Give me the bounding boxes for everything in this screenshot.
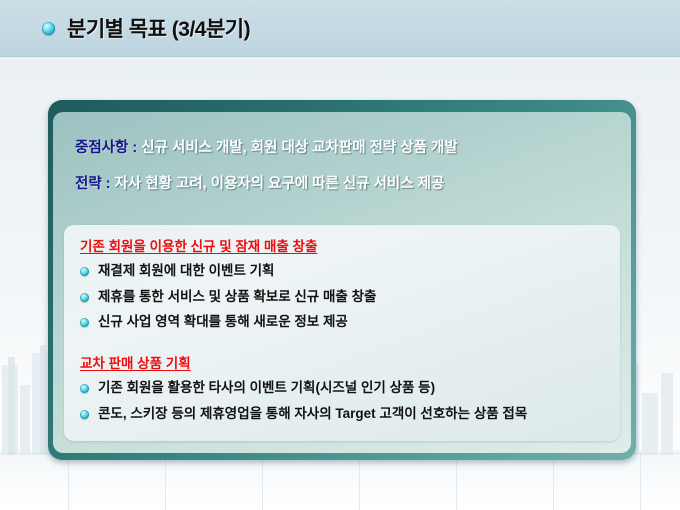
content-card-inner: 중점사항 : 신규 서비스 개발, 회원 대상 교차판매 전략 상품 개발 전략…: [53, 112, 631, 453]
statement-row: 전략 : 자사 현황 고려, 이용자의 요구에 따른 신규 서비스 제공: [75, 172, 615, 193]
slide-header: 분기별 목표 (3/4분기): [0, 0, 680, 57]
sphere-bullet-icon: [80, 293, 89, 302]
grid-line: [359, 452, 360, 510]
sphere-bullet-icon: [80, 267, 89, 276]
section-block: 기존 회원을 이용한 신규 및 잠재 매출 창출 재결제 회원에 대한 이벤트 …: [80, 235, 610, 332]
page-title: 분기별 목표 (3/4분기): [67, 13, 250, 43]
statements-block: 중점사항 : 신규 서비스 개발, 회원 대상 교차판매 전략 상품 개발 전략…: [75, 136, 615, 208]
statement-text: 자사 현황 고려, 이용자의 요구에 따른 신규 서비스 제공: [115, 176, 445, 192]
list-item: 제휴를 통한 서비스 및 상품 확보로 신규 매출 창출: [80, 288, 610, 307]
list-item: 재결제 회원에 대한 이벤트 기획: [80, 262, 610, 281]
list-item-label: 재결제 회원에 대한 이벤트 기획: [98, 262, 274, 281]
list-item-label: 기존 회원을 활용한 타사의 이벤트 기획(시즈널 인기 상품 등): [98, 379, 435, 398]
list-item-label: 신규 사업 영역 확대를 통해 새로운 정보 제공: [98, 313, 348, 332]
grid-line: [640, 452, 641, 510]
detail-panel-content: 기존 회원을 이용한 신규 및 잠재 매출 창출 재결제 회원에 대한 이벤트 …: [80, 235, 610, 430]
list-item: 기존 회원을 활용한 타사의 이벤트 기획(시즈널 인기 상품 등): [80, 379, 610, 398]
content-card: 중점사항 : 신규 서비스 개발, 회원 대상 교차판매 전략 상품 개발 전략…: [48, 100, 636, 460]
grid-line: [165, 452, 166, 510]
bullet-list: 기존 회원을 활용한 타사의 이벤트 기획(시즈널 인기 상품 등) 콘도, 스…: [80, 379, 610, 423]
sphere-bullet-icon: [80, 410, 89, 419]
list-item: 콘도, 스키장 등의 제휴영업을 통해 자사의 Target 고객이 선호하는 …: [80, 405, 610, 424]
section-block: 교차 판매 상품 기획 기존 회원을 활용한 타사의 이벤트 기획(시즈널 인기…: [80, 352, 610, 423]
statement-text: 신규 서비스 개발, 회원 대상 교차판매 전략 상품 개발: [141, 140, 457, 156]
grid-line: [262, 452, 263, 510]
statement-separator: :: [102, 176, 115, 192]
detail-panel: 기존 회원을 이용한 신규 및 잠재 매출 창출 재결제 회원에 대한 이벤트 …: [64, 225, 620, 441]
statement-label: 전략: [75, 176, 102, 192]
header-content: 분기별 목표 (3/4분기): [42, 13, 250, 43]
bullet-list: 재결제 회원에 대한 이벤트 기획 제휴를 통한 서비스 및 상품 확보로 신규…: [80, 262, 610, 332]
sphere-bullet-icon: [80, 318, 89, 327]
list-item-label: 콘도, 스키장 등의 제휴영업을 통해 자사의 Target 고객이 선호하는 …: [98, 405, 527, 424]
sphere-bullet-icon: [42, 22, 55, 35]
grid-line: [456, 452, 457, 510]
list-item-label: 제휴를 통한 서비스 및 상품 확보로 신규 매출 창출: [98, 288, 376, 307]
sphere-bullet-icon: [80, 384, 89, 393]
statement-row: 중점사항 : 신규 서비스 개발, 회원 대상 교차판매 전략 상품 개발: [75, 136, 615, 157]
grid-line: [553, 452, 554, 510]
section-heading: 교차 판매 상품 기획: [80, 352, 191, 372]
grid-line: [68, 452, 69, 510]
section-heading: 기존 회원을 이용한 신규 및 잠재 매출 창출: [80, 235, 317, 255]
statement-label: 중점사항: [75, 140, 128, 156]
content-card-body: 중점사항 : 신규 서비스 개발, 회원 대상 교차판매 전략 상품 개발 전략…: [53, 112, 631, 453]
list-item: 신규 사업 영역 확대를 통해 새로운 정보 제공: [80, 313, 610, 332]
slide-canvas: 분기별 목표 (3/4분기) 중점사항 : 신규 서비스 개발, 회원 대상 교…: [0, 0, 680, 510]
statement-separator: :: [128, 140, 141, 156]
